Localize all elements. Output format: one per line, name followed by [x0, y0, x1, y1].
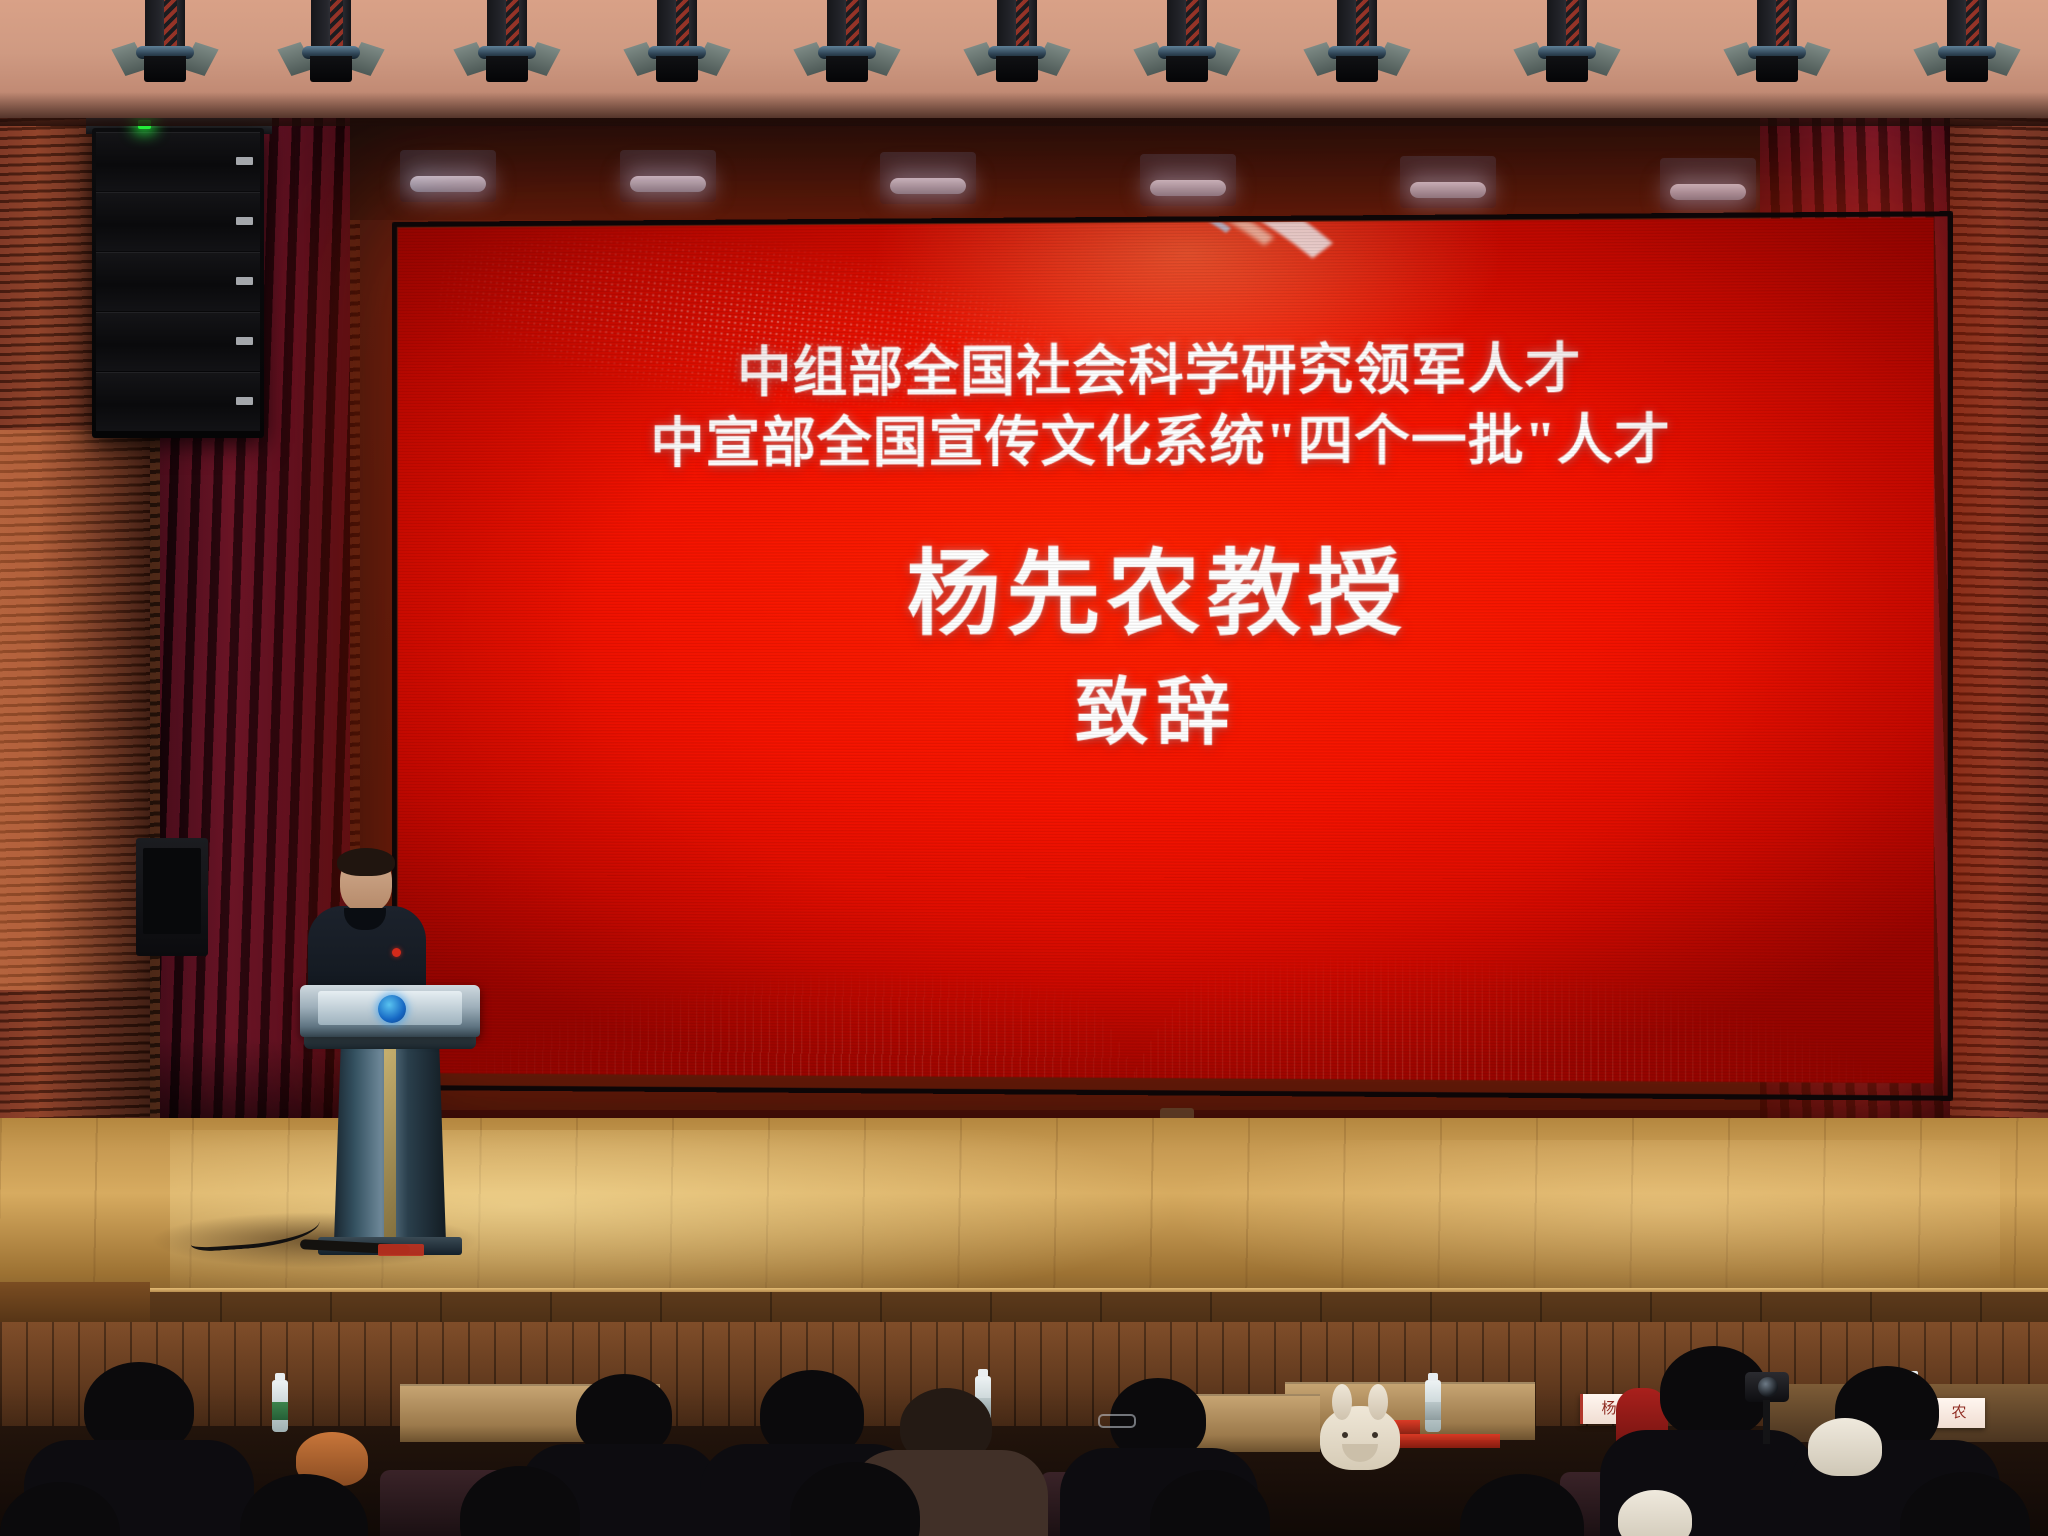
- light-stripe: [164, 0, 177, 46]
- audience-glasses-icon: [1098, 1414, 1136, 1428]
- bunny-ear-right: [1368, 1384, 1388, 1420]
- stage-light-1: [128, 0, 202, 86]
- stage-monitor: [136, 838, 208, 956]
- light-stripe: [1356, 0, 1369, 46]
- array-brand-tag: [236, 397, 253, 405]
- podium-top-surface: [300, 985, 480, 1037]
- array-module: [96, 132, 260, 191]
- camera-holder-arm: [1763, 1400, 1770, 1444]
- bunny-hat: [1320, 1406, 1400, 1470]
- array-module: [96, 252, 260, 311]
- stage-light-6: [980, 0, 1054, 86]
- array-brand-tag: [236, 277, 253, 285]
- array-brand-tag: [236, 157, 253, 165]
- ceiling-spot-5: [1400, 156, 1496, 208]
- stage-light-5: [810, 0, 884, 86]
- bottle-label: [272, 1402, 288, 1420]
- credential-line-1: 中组部全国社会科学研究领军人才: [398, 332, 1934, 410]
- light-lens: [1756, 56, 1798, 82]
- array-module: [96, 312, 260, 371]
- light-lens: [1166, 56, 1208, 82]
- credential-line-2: 中宣部全国宣传文化系统"四个一批"人才: [398, 404, 1934, 480]
- stage-light-10: [1740, 0, 1814, 86]
- stage-light-pool-right: [1180, 1140, 2000, 1310]
- light-stripe: [1186, 0, 1199, 46]
- light-lens: [486, 56, 528, 82]
- stage-light-7: [1150, 0, 1224, 86]
- speaker-name: 杨先农教授: [398, 542, 1934, 648]
- light-lens: [144, 56, 186, 82]
- placard-text: 农: [1933, 1398, 1985, 1428]
- desk-red-trim: [1390, 1434, 1500, 1448]
- stage-light-11: [1930, 0, 2004, 86]
- podium-emblem-icon: [378, 995, 406, 1023]
- line-array-speaker: [92, 128, 264, 438]
- array-brand-tag: [236, 337, 253, 345]
- bunny-eye-right: [1372, 1432, 1378, 1438]
- camera-lens-icon: [1758, 1377, 1778, 1397]
- light-stripe: [506, 0, 519, 46]
- bottle-cap: [978, 1369, 988, 1377]
- wood-panel-left-highlight: [0, 430, 150, 990]
- presenter-hair: [337, 848, 395, 876]
- light-stripe: [1966, 0, 1979, 46]
- bottle-cap: [275, 1373, 285, 1381]
- light-stripe: [1776, 0, 1789, 46]
- led-display-screen: 中组部全国社会科学研究领军人才 中宣部全国宣传文化系统"四个一批"人才 杨先农教…: [398, 218, 1934, 1084]
- light-lens: [996, 56, 1038, 82]
- light-stripe: [330, 0, 343, 46]
- light-stripe: [676, 0, 689, 46]
- water-bottle: [1425, 1380, 1441, 1432]
- podium-accent-stripe: [384, 1047, 396, 1243]
- bunny-mouth: [1342, 1444, 1378, 1462]
- bunny-eye-left: [1342, 1432, 1348, 1438]
- stage-light-4: [640, 0, 714, 86]
- light-lens: [656, 56, 698, 82]
- spot-glow: [410, 176, 486, 192]
- stage-light-9: [1530, 0, 1604, 86]
- stage-light-2: [294, 0, 368, 86]
- audience-area: 杨 农: [0, 1322, 2048, 1536]
- array-module: [96, 192, 260, 251]
- bunny-ear-left: [1332, 1384, 1352, 1420]
- speaker-name-block: 杨先农教授 致辞: [398, 542, 1934, 759]
- water-bottle: [272, 1380, 288, 1432]
- slide-text-block: 中组部全国社会科学研究领军人才 中宣部全国宣传文化系统"四个一批"人才 杨先农教…: [398, 332, 1934, 758]
- camera-device: [1745, 1372, 1789, 1402]
- spot-glow: [1670, 184, 1746, 200]
- light-lens: [1546, 56, 1588, 82]
- auditorium-scene: 中组部全国社会科学研究领军人才 中宣部全国宣传文化系统"四个一批"人才 杨先农教…: [0, 0, 2048, 1536]
- light-lens: [826, 56, 868, 82]
- ceiling-spot-3: [880, 152, 976, 204]
- floor-tape-marker: [378, 1244, 424, 1256]
- ceiling-spot-4: [1140, 154, 1236, 206]
- ceiling-shadow: [0, 92, 2048, 126]
- array-brand-tag: [236, 217, 253, 225]
- bottle-label: [1425, 1402, 1441, 1420]
- lapel-pin-icon: [392, 948, 401, 957]
- spot-glow: [630, 176, 706, 192]
- light-stripe: [1566, 0, 1579, 46]
- monitor-screen: [143, 848, 201, 934]
- stage-light-3: [470, 0, 544, 86]
- spot-glow: [890, 178, 966, 194]
- light-stripe: [846, 0, 859, 46]
- ceiling-spot-6: [1660, 158, 1756, 210]
- podium: [300, 985, 480, 1265]
- speaker-action: 致辞: [398, 669, 1934, 758]
- stage-light-8: [1320, 0, 1394, 86]
- spot-glow: [1410, 182, 1486, 198]
- array-module: [96, 372, 260, 431]
- spot-glow: [1150, 180, 1226, 196]
- light-lens: [1946, 56, 1988, 82]
- light-stripe: [1016, 0, 1029, 46]
- cream-beanie: [1808, 1418, 1882, 1476]
- light-lens: [1336, 56, 1378, 82]
- bottle-cap: [1428, 1373, 1438, 1381]
- light-lens: [310, 56, 352, 82]
- ceiling-spot-1: [400, 150, 496, 202]
- ceiling-spot-2: [620, 150, 716, 202]
